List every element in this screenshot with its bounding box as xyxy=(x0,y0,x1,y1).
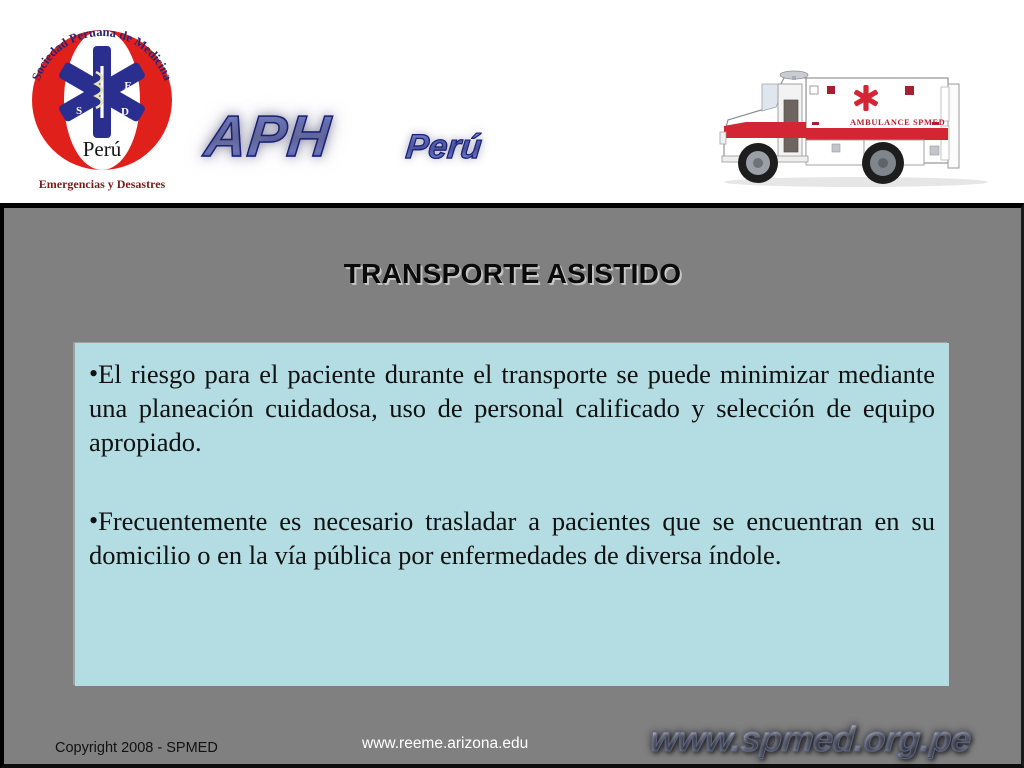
reeme-url-label: www.reeme.arizona.edu xyxy=(362,735,528,753)
star-letter-e: E xyxy=(124,80,131,92)
star-letter-m: M xyxy=(114,57,125,69)
ambulance-illustration: AMBULANCE SPMED xyxy=(706,40,1006,195)
copyright-label: Copyright 2008 - SPMED xyxy=(55,740,218,756)
page-title: TRANSPORTE ASISTIDO xyxy=(4,258,1021,290)
ambulance-icon: AMBULANCE SPMED xyxy=(706,40,1006,195)
slide-header: P M E D S Perú Sociedad Peruana de Medic… xyxy=(0,0,1024,205)
logo-country-label: Perú xyxy=(83,137,122,161)
bullet-glyph: • xyxy=(89,359,98,388)
bullet-paragraph-1: •El riesgo para el paciente durante el t… xyxy=(89,357,935,460)
spmed-logo: P M E D S Perú Sociedad Peruana de Medic… xyxy=(22,10,182,196)
peru-wordart-subtitle: Perú xyxy=(404,130,483,164)
spmed-logo-icon: P M E D S Perú Sociedad Peruana de Medic… xyxy=(22,10,182,196)
bullet-paragraph-2: •Frecuentemente es necesario trasladar a… xyxy=(89,504,935,572)
star-letter-d: D xyxy=(121,106,129,118)
slide-body: TRANSPORTE ASISTIDO •El riesgo para el p… xyxy=(0,203,1024,768)
content-text-box: •El riesgo para el paciente durante el t… xyxy=(75,343,949,686)
bullet-glyph: • xyxy=(89,506,98,535)
paragraph-1-text: El riesgo para el paciente durante el tr… xyxy=(89,359,935,457)
spmed-url-wordart: www.spmed.org.pe xyxy=(648,721,972,757)
logo-subtitle: Emergencias y Desastres xyxy=(39,177,166,191)
star-letter-s: S xyxy=(76,105,82,117)
aph-wordart-title: APH xyxy=(202,108,334,166)
paragraph-2-text: Frecuentemente es necesario trasladar a … xyxy=(89,506,935,570)
star-letter-p: P xyxy=(82,59,89,71)
ambulance-side-text: AMBULANCE SPMED xyxy=(850,118,945,127)
